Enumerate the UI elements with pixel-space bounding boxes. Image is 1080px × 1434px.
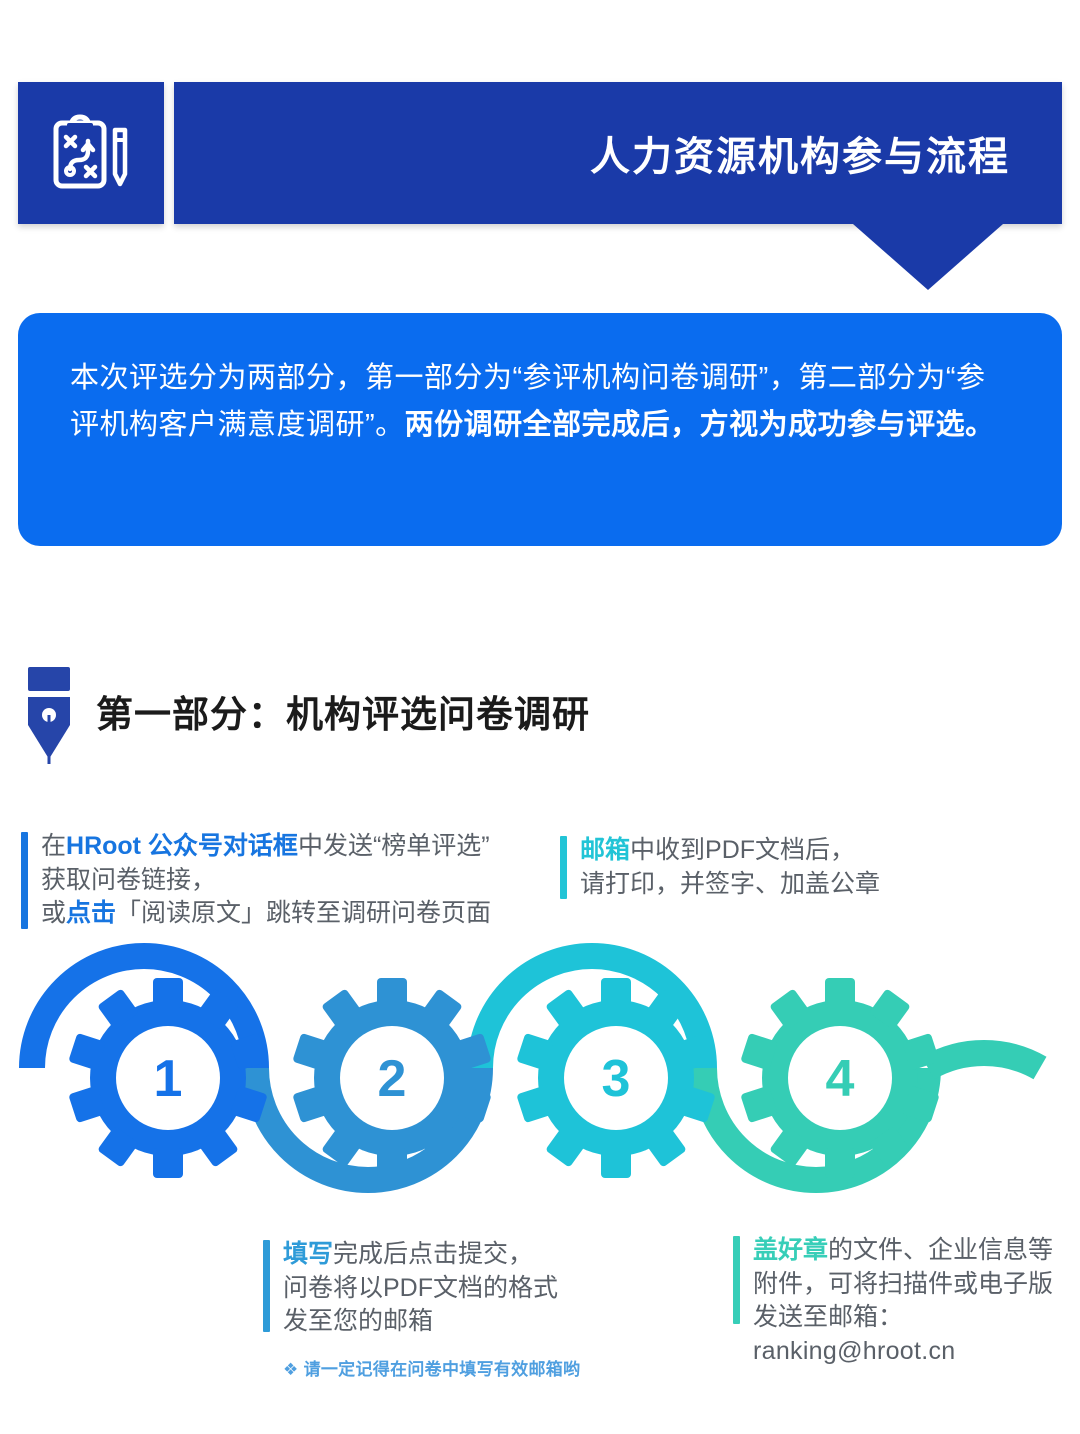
infographic-page: 人力资源机构参与流程 本次评选分为两部分，第一部分为“参评机构问卷调研”，第二部…	[0, 0, 1080, 1434]
step-2-line-1-seg-2: 完成后点击提交，	[333, 1240, 533, 1268]
step-3-text-block: 邮箱中收到PDF文档后， 请打印，并签字、加盖公章	[560, 834, 980, 901]
step-2-line-3: 发至您的邮箱	[283, 1305, 593, 1339]
step-1-line-1-seg-1: 在	[41, 832, 66, 860]
step-1-line-1-seg-3: 中发送“榜单评选”	[298, 832, 490, 860]
header-title-bar: 人力资源机构参与流程	[174, 82, 1062, 224]
section-header: 第一部分：机构评选问卷调研	[0, 660, 1080, 770]
page-title: 人力资源机构参与流程	[590, 124, 1062, 182]
process-gear-diagram: 1	[0, 938, 1080, 1228]
step-4-line-3: 发送至邮箱：	[753, 1301, 1080, 1335]
step-1-line-1: 在HRoot 公众号对话框中发送“榜单评选”	[41, 830, 541, 864]
clipboard-strategy-icon	[53, 113, 129, 193]
step-1-line-3-seg-2: 点击	[66, 899, 116, 927]
gear-step-3-number: 3	[602, 1050, 631, 1108]
step-4-line-2: 附件，可将扫描件或电子版	[753, 1268, 1080, 1302]
step-4-line-1: 盖好章的文件、企业信息等	[753, 1234, 1080, 1268]
step-3-line-1-seg-2: 中收到PDF文档后，	[630, 836, 855, 864]
step-3-line-1-seg-1: 邮箱	[580, 836, 630, 864]
step-2-accent-bar	[263, 1240, 270, 1332]
gear-step-2-number: 2	[378, 1050, 407, 1108]
step-1-line-3-seg-3: 「阅读原文」跳转至调研问卷页面	[116, 899, 491, 927]
step-4-text-block: 盖好章的文件、企业信息等 附件，可将扫描件或电子版 发送至邮箱： ranking…	[733, 1234, 1080, 1368]
section-title: 第一部分：机构评选问卷调研	[96, 684, 590, 738]
step-2-line-2: 问卷将以PDF文档的格式	[283, 1272, 593, 1306]
ribbon-arc-tail	[928, 1053, 1040, 1068]
intro-callout-text: 本次评选分为两部分，第一部分为“参评机构问卷调研”，第二部分为“参评机构客户满意…	[70, 355, 1010, 449]
header: 人力资源机构参与流程	[0, 0, 1080, 300]
step-2-line-1-seg-1: 填写	[283, 1240, 333, 1268]
step-4-line-1-seg-1: 盖好章	[753, 1236, 828, 1264]
step-1-text-block: 在HRoot 公众号对话框中发送“榜单评选” 获取问卷链接， 或点击「阅读原文」…	[21, 830, 541, 931]
fountain-pen-nib-icon	[18, 665, 80, 765]
gear-chain-svg: 1	[0, 938, 1080, 1228]
step-2-note: ❖ 请一定记得在问卷中填写有效邮箱哟	[283, 1355, 593, 1380]
step-3-line-1: 邮箱中收到PDF文档后，	[580, 834, 980, 868]
step-3-line-2: 请打印，并签字、加盖公章	[580, 868, 980, 902]
step-1-line-3-seg-1: 或	[41, 899, 66, 927]
header-arrow-pointer	[853, 224, 1003, 290]
intro-callout-text-bold: 两份调研全部完成后，方视为成功参与评选。	[405, 409, 995, 441]
intro-callout: 本次评选分为两部分，第一部分为“参评机构问卷调研”，第二部分为“参评机构客户满意…	[18, 313, 1062, 546]
step-1-line-2: 获取问卷链接，	[41, 864, 541, 898]
step-2-text-block: 填写完成后点击提交， 问卷将以PDF文档的格式 发至您的邮箱 ❖ 请一定记得在问…	[263, 1238, 593, 1380]
gear-step-4-number: 4	[826, 1050, 855, 1108]
step-1-line-3: 或点击「阅读原文」跳转至调研问卷页面	[41, 897, 541, 931]
step-4-accent-bar	[733, 1236, 740, 1324]
step-3-accent-bar	[560, 836, 567, 899]
header-icon-box	[18, 82, 164, 224]
step-1-accent-bar	[21, 832, 28, 929]
step-4-email: ranking@hroot.cn	[753, 1335, 1080, 1369]
gear-step-1-number: 1	[154, 1050, 183, 1108]
step-4-line-1-seg-2: 的文件、企业信息等	[828, 1236, 1053, 1264]
step-1-line-1-seg-2: HRoot 公众号对话框	[66, 832, 298, 860]
step-2-line-1: 填写完成后点击提交，	[283, 1238, 593, 1272]
